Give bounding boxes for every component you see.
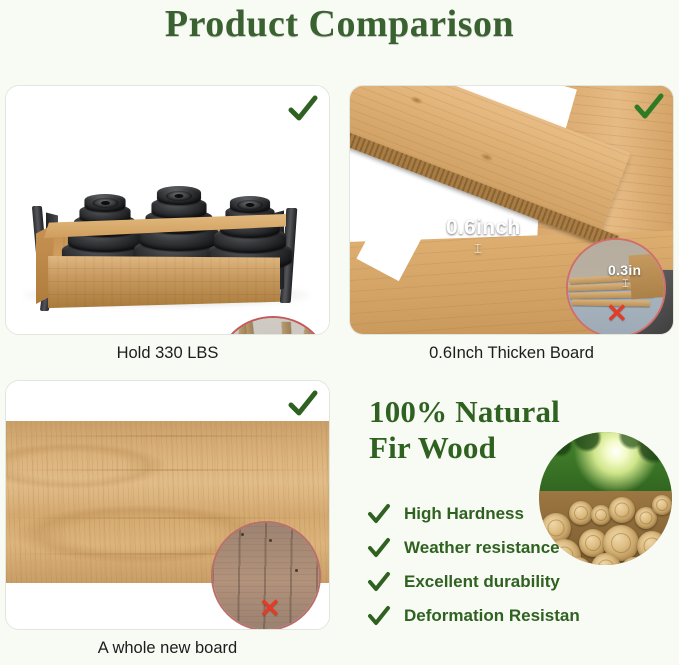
plate-hole [101,201,110,205]
feature-item: High Hardness [367,503,524,525]
wood-knot [409,94,425,106]
log [637,531,667,561]
feature-item: Excellent durability [367,571,560,593]
caption-hold-weight: Hold 330 LBS [5,344,330,363]
crate-slat [282,322,296,335]
wood-grain [5,443,166,489]
feature-item: Weather resistance [367,537,560,559]
bad-example-inset: ✕ [211,521,321,630]
caption-whole-board: A whole new board [5,639,330,658]
plate-hole [175,194,184,198]
weight-plate [157,186,201,205]
check-icon [367,605,391,627]
log [569,501,593,525]
wood-grain-line [6,517,330,519]
panel-board-thickness: 0.6inch ⌶ 0.3in ⌶ ✕ [349,85,674,335]
natural-wood-heading-line1: 100% Natural [369,394,560,429]
plate-hole [246,203,255,207]
wood-grain-line [6,469,330,471]
panel-hold-weight: ✕ [5,85,330,335]
wood-grain-line [6,435,330,437]
page-title: Product Comparison [0,2,679,46]
wood-knot [479,151,495,163]
log [652,495,672,515]
measure-ibeam-icon: ⌶ [622,278,629,291]
log [609,497,635,523]
broken-crate-photo [220,318,326,335]
check-icon [367,503,391,525]
feature-label: Excellent durability [404,572,560,592]
feature-label: Deformation Resistan [404,606,580,626]
weight-plate [85,194,126,212]
measure-ibeam-icon: ⌶ [474,241,482,257]
nail-hole [241,533,244,536]
thickness-label-bad: 0.3in [608,262,641,278]
panel-whole-board: ✕ [5,380,330,630]
nail-hole [269,539,272,542]
x-icon: ✕ [259,595,281,621]
feature-label: High Hardness [404,504,524,524]
check-icon [367,537,391,559]
box-front-panel [48,256,280,308]
thickness-label-good: 0.6inch [446,216,520,240]
crate-slat [295,328,313,335]
panel-natural-fir-wood: 100% Natural Fir Wood [349,380,679,665]
feature-label: Weather resistance [404,538,560,558]
infographic-root: Product Comparison [0,0,679,665]
check-icon [367,571,391,593]
planter-box-photo [6,86,329,334]
nail-hole [295,569,298,572]
crate-slat [245,320,257,335]
natural-wood-heading-line2: Fir Wood [369,430,496,465]
caption-board-thickness: 0.6Inch Thicken Board [349,344,674,363]
bad-example-inset: ✕ [218,316,328,335]
bad-example-inset: 0.3in ⌶ ✕ [566,238,666,335]
x-icon: ✕ [606,300,628,326]
feature-item: Deformation Resistan [367,605,580,627]
weight-plate [230,196,270,213]
log [591,505,611,525]
